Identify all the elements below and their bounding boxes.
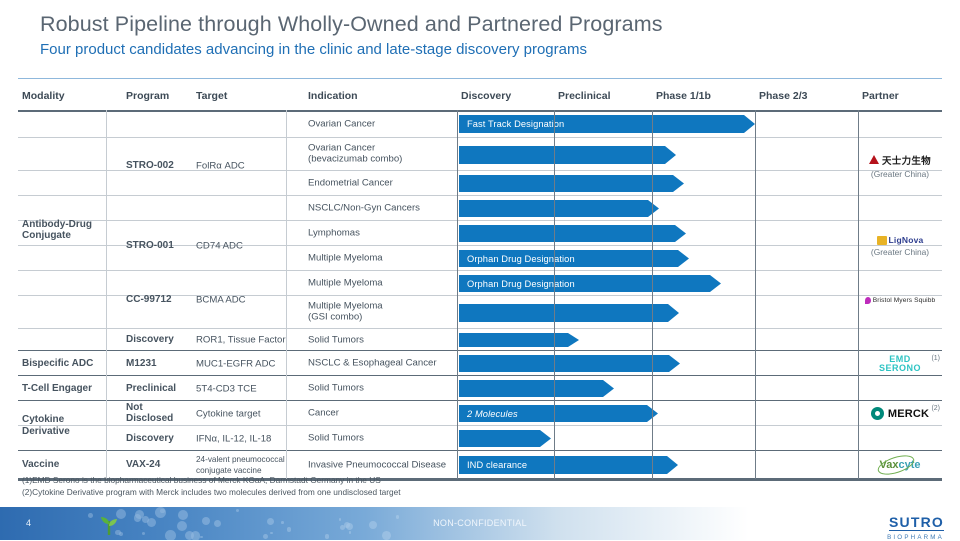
bar-arrow-tip bbox=[669, 355, 680, 372]
cell-modality-adc: Antibody-DrugConjugate bbox=[22, 219, 108, 243]
partner-region: (Greater China) bbox=[871, 247, 929, 257]
partner-cell: 天士力生物(Greater China) bbox=[858, 110, 942, 221]
bristol-myers-squibb-logo: Bristol Myers Squibb bbox=[865, 297, 935, 304]
column-separator-discovery-start bbox=[457, 110, 458, 479]
column-header-phase23: Phase 2/3 bbox=[759, 90, 807, 102]
bar-arrow-tip bbox=[668, 304, 679, 322]
table-row: Ovarian Cancer Fast Track Designation bbox=[18, 110, 942, 138]
cell-program-m1231: M1231 bbox=[126, 358, 190, 370]
footnote-2: (2)Cytokine Derivative program with Merc… bbox=[22, 486, 401, 498]
slide-footer: 4 NON-CONFIDENTIAL SUTRO BIOPHARMA bbox=[0, 507, 960, 540]
title-block: Robust Pipeline through Wholly-Owned and… bbox=[40, 12, 663, 58]
bar-arrow-tip bbox=[673, 175, 684, 192]
bar-arrow-tip bbox=[568, 333, 579, 347]
column-header-preclinical: Preclinical bbox=[558, 90, 611, 102]
lignova-logo: LigNova bbox=[877, 235, 924, 245]
column-header-phase1: Phase 1/1b bbox=[656, 90, 711, 102]
bar-arrow-tip bbox=[667, 456, 678, 474]
pipeline-bar[interactable] bbox=[459, 146, 665, 164]
column-separator bbox=[652, 110, 653, 479]
cell-program-stro001: STRO-001 bbox=[126, 240, 190, 252]
partner-region: (Greater China) bbox=[871, 169, 929, 179]
confidentiality-label: NON-CONFIDENTIAL bbox=[0, 518, 960, 528]
pipeline-bar[interactable]: Orphan Drug Designation bbox=[459, 250, 678, 267]
cell-modality-bispecific: Bispecific ADC bbox=[22, 358, 108, 370]
footnote-1: (1)EMD Serono is the biopharmaceutical b… bbox=[22, 474, 401, 486]
cell-program-discovery-cyt: Discovery bbox=[126, 433, 190, 445]
cell-program-stro002: STRO-002 bbox=[126, 160, 190, 172]
bar-label: Fast Track Designation bbox=[459, 119, 564, 129]
pipeline-bar[interactable] bbox=[459, 225, 675, 242]
column-separator bbox=[755, 110, 756, 479]
column-header-target: Target bbox=[196, 90, 227, 102]
bar-arrow-tip bbox=[665, 146, 676, 164]
pipeline-bar[interactable]: IND clearance bbox=[459, 456, 667, 474]
cell-program-not-disclosed: Not Disclosed bbox=[126, 402, 190, 426]
partner-cell: MERCK(2) bbox=[858, 401, 942, 426]
tasly-logo: 天士力生物 bbox=[869, 153, 931, 167]
column-header-program: Program bbox=[126, 90, 169, 102]
table-header-row: Modality Program Target Indication Disco… bbox=[18, 88, 942, 110]
pipeline-bar[interactable]: Fast Track Designation bbox=[459, 115, 744, 133]
partner-footnote-marker: (2) bbox=[931, 405, 940, 412]
column-header-partner: Partner bbox=[862, 90, 899, 102]
partner-cell: Vaxcyte bbox=[858, 451, 942, 479]
emd-serono-logo: EMDSERONO bbox=[879, 355, 921, 373]
page-title: Robust Pipeline through Wholly-Owned and… bbox=[40, 12, 663, 37]
cell-modality-vaccine: Vaccine bbox=[22, 459, 108, 471]
cell-modality-tce: T-Cell Engager bbox=[22, 383, 108, 395]
pipeline-bar[interactable] bbox=[459, 355, 669, 372]
pipeline-table: Modality Program Target Indication Disco… bbox=[18, 88, 942, 479]
column-separator-program-start bbox=[106, 110, 107, 479]
column-header-indication: Indication bbox=[308, 90, 358, 102]
table-body: Ovarian Cancer Fast Track Designation Ov… bbox=[18, 110, 942, 479]
bar-arrow-tip bbox=[744, 115, 755, 133]
cell-program-discovery-adc: Discovery bbox=[126, 334, 190, 346]
merck-logo: MERCK bbox=[871, 407, 929, 420]
cell-program-vax24: VAX-24 bbox=[126, 459, 190, 471]
pipeline-bar[interactable] bbox=[459, 430, 540, 447]
vaxcyte-logo: Vaxcyte bbox=[880, 459, 921, 471]
bar-lane: Orphan Drug Designation bbox=[18, 271, 942, 295]
bar-arrow-tip bbox=[675, 225, 686, 242]
column-header-discovery: Discovery bbox=[461, 90, 511, 102]
partner-footnote-marker: (1) bbox=[931, 355, 940, 362]
pipeline-bar[interactable] bbox=[459, 333, 568, 347]
bar-arrow-tip bbox=[648, 200, 659, 217]
cell-program-cc99712: CC-99712 bbox=[126, 294, 190, 306]
column-header-modality: Modality bbox=[22, 90, 65, 102]
partner-cell: LigNova(Greater China) bbox=[858, 221, 942, 271]
bar-lane: Fast Track Designation bbox=[18, 110, 942, 137]
pipeline-bar[interactable]: 2 Molecules bbox=[459, 405, 647, 422]
table-row: Endometrial Cancer bbox=[18, 171, 942, 196]
partner-cell: EMDSERONO(1) bbox=[858, 351, 942, 376]
bar-lane bbox=[18, 171, 942, 195]
bar-label: 2 Molecules bbox=[459, 409, 518, 419]
pipeline-bar[interactable] bbox=[459, 175, 673, 192]
bar-label: Orphan Drug Designation bbox=[459, 279, 575, 289]
cell-modality-cytokine: CytokineDerivative bbox=[22, 414, 108, 438]
page-subtitle: Four product candidates advancing in the… bbox=[40, 41, 663, 58]
bar-arrow-tip bbox=[603, 380, 614, 397]
bar-arrow-tip bbox=[710, 275, 721, 292]
footnotes: (1)EMD Serono is the biopharmaceutical b… bbox=[22, 474, 401, 499]
column-separator-indication-start bbox=[286, 110, 287, 479]
table-row: Multiple Myeloma Orphan Drug Designation bbox=[18, 271, 942, 296]
title-divider bbox=[18, 78, 942, 79]
bar-label: Orphan Drug Designation bbox=[459, 254, 575, 264]
cell-program-preclinical: Preclinical bbox=[126, 383, 190, 395]
pipeline-bar[interactable] bbox=[459, 304, 668, 322]
bar-label: IND clearance bbox=[459, 460, 527, 470]
partner-cell: Bristol Myers Squibb bbox=[858, 271, 942, 329]
column-separator bbox=[554, 110, 555, 479]
pipeline-bar[interactable] bbox=[459, 380, 603, 397]
bar-arrow-tip bbox=[678, 250, 689, 267]
sutro-biopharma-logo: SUTRO BIOPHARMA bbox=[887, 514, 944, 541]
bar-arrow-tip bbox=[540, 430, 551, 447]
sutro-wordmark: SUTRO bbox=[889, 514, 944, 531]
table-row: NSCLC/Non-Gyn Cancers bbox=[18, 196, 942, 221]
bar-lane bbox=[18, 196, 942, 220]
pipeline-bar[interactable]: Orphan Drug Designation bbox=[459, 275, 710, 292]
